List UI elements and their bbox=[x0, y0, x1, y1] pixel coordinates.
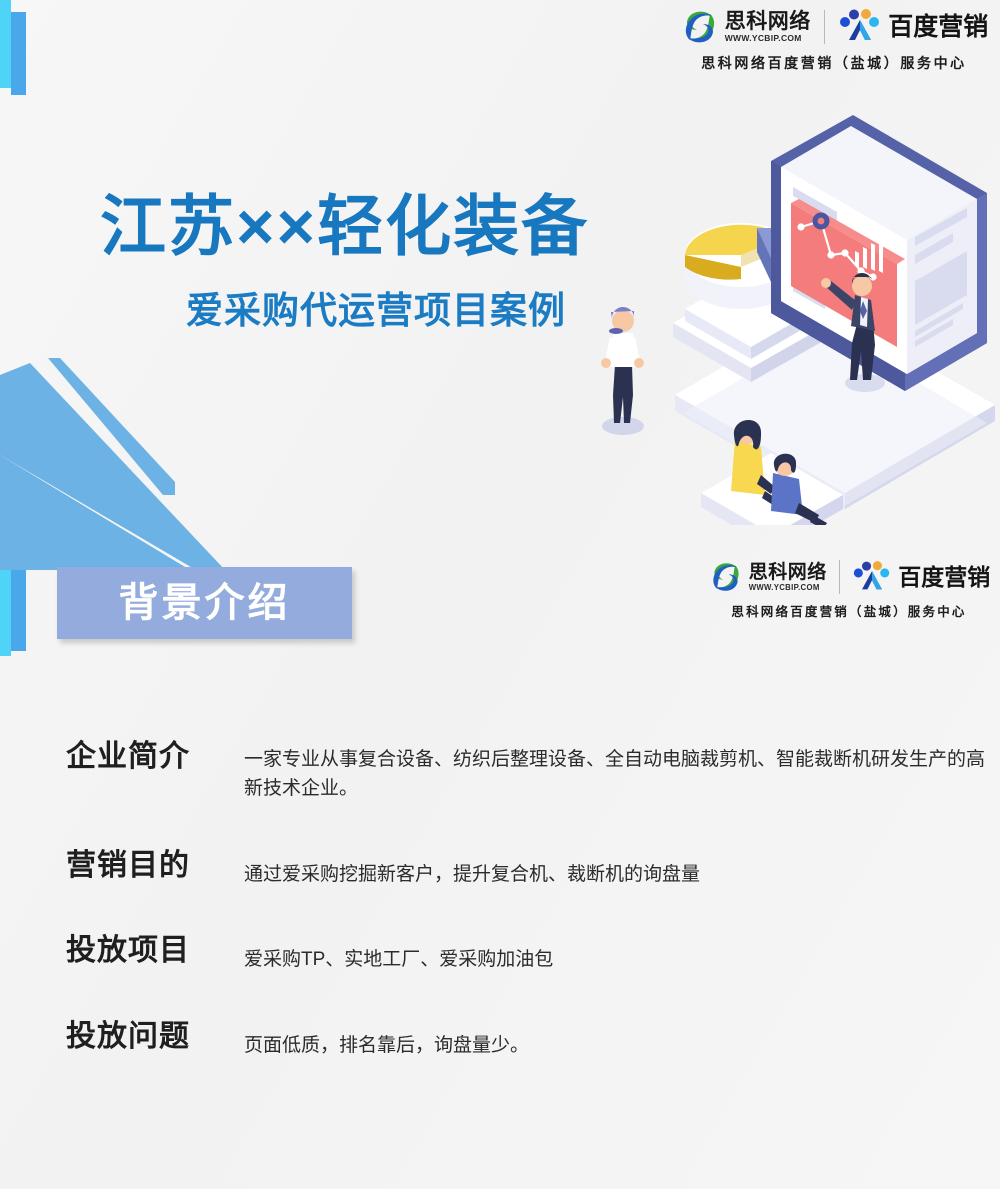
decor-bar-cyan-bottom bbox=[0, 562, 11, 656]
sike-logo: 思科网络 WWW.YCBIP.COM bbox=[708, 560, 827, 594]
info-row-value: 一家专业从事复合设备、纺织后整理设备、全自动电脑裁剪机、智能裁断机研发生产的高新… bbox=[244, 739, 1000, 804]
baidu-paw-icon bbox=[852, 561, 892, 594]
baidu-name: 百度营销 bbox=[898, 566, 990, 589]
decor-bar-cyan-top bbox=[0, 0, 11, 88]
decor-bar-blue-top bbox=[11, 12, 26, 95]
info-row-label: 企业简介 bbox=[66, 739, 244, 775]
sike-name: 思科网络 bbox=[725, 11, 811, 32]
sike-text: 思科网络 WWW.YCBIP.COM bbox=[725, 11, 811, 43]
decor-bar-blue-bottom bbox=[11, 566, 26, 651]
section-header-background: 背景介绍 bbox=[57, 567, 352, 639]
info-row-value: 爱采购TP、实地工厂、爱采购加油包 bbox=[244, 933, 553, 974]
info-list: 企业简介 一家专业从事复合设备、纺织后整理设备、全自动电脑裁剪机、智能裁断机研发… bbox=[0, 725, 1000, 1060]
baidu-paw-icon bbox=[838, 9, 882, 45]
sike-swirl-icon bbox=[680, 8, 720, 46]
info-row: 营销目的 通过爱采购挖掘新客户，提升复合机、裁断机的询盘量 bbox=[0, 848, 1000, 889]
baidu-logo: 百度营销 bbox=[852, 561, 990, 594]
poster-page: 思科网络 WWW.YCBIP.COM 百度营销 思科网络百度营销（盐城）服务中心… bbox=[0, 0, 1000, 1189]
info-row-value: 通过爱采购挖掘新客户，提升复合机、裁断机的询盘量 bbox=[244, 848, 700, 889]
hero-illustration bbox=[575, 95, 1000, 525]
sike-swirl-icon bbox=[708, 560, 744, 594]
logo-row: 思科网络 WWW.YCBIP.COM 百度营销 bbox=[680, 8, 989, 46]
section-heading: 背景介绍 bbox=[119, 583, 291, 623]
info-row: 企业简介 一家专业从事复合设备、纺织后整理设备、全自动电脑裁剪机、智能裁断机研发… bbox=[0, 739, 1000, 804]
sike-name: 思科网络 bbox=[749, 563, 827, 582]
sike-logo: 思科网络 WWW.YCBIP.COM bbox=[680, 8, 811, 46]
logo-divider bbox=[839, 560, 841, 594]
info-row-value: 页面低质，排名靠后，询盘量少。 bbox=[244, 1019, 529, 1060]
info-row: 投放问题 页面低质，排名靠后，询盘量少。 bbox=[0, 1019, 1000, 1060]
sike-url: WWW.YCBIP.COM bbox=[725, 34, 811, 43]
baidu-name: 百度营销 bbox=[888, 15, 988, 40]
logo-row: 思科网络 WWW.YCBIP.COM 百度营销 bbox=[708, 560, 991, 594]
info-row-label: 投放项目 bbox=[66, 933, 244, 969]
page-title: 江苏××轻化装备 bbox=[100, 193, 589, 259]
brand-logo-block-top: 思科网络 WWW.YCBIP.COM 百度营销 思科网络百度营销（盐城）服务中心 bbox=[668, 8, 1000, 73]
logo-divider bbox=[824, 10, 826, 44]
page-subtitle: 爱采购代运营项目案例 bbox=[186, 292, 566, 329]
sike-url: WWW.YCBIP.COM bbox=[749, 584, 827, 592]
sike-text: 思科网络 WWW.YCBIP.COM bbox=[749, 563, 827, 592]
decor-diagonal-band bbox=[0, 355, 240, 570]
info-row-label: 投放问题 bbox=[66, 1019, 244, 1055]
brand-logo-block-middle: 思科网络 WWW.YCBIP.COM 百度营销 思科网络百度营销（盐城）服务中心 bbox=[698, 560, 1000, 620]
info-row: 投放项目 爱采购TP、实地工厂、爱采购加油包 bbox=[0, 933, 1000, 974]
service-center-text: 思科网络百度营销（盐城）服务中心 bbox=[701, 53, 967, 73]
service-center-text: 思科网络百度营销（盐城）服务中心 bbox=[731, 601, 966, 620]
info-row-label: 营销目的 bbox=[66, 848, 244, 884]
standing-figure bbox=[601, 307, 644, 435]
baidu-logo: 百度营销 bbox=[838, 9, 988, 45]
